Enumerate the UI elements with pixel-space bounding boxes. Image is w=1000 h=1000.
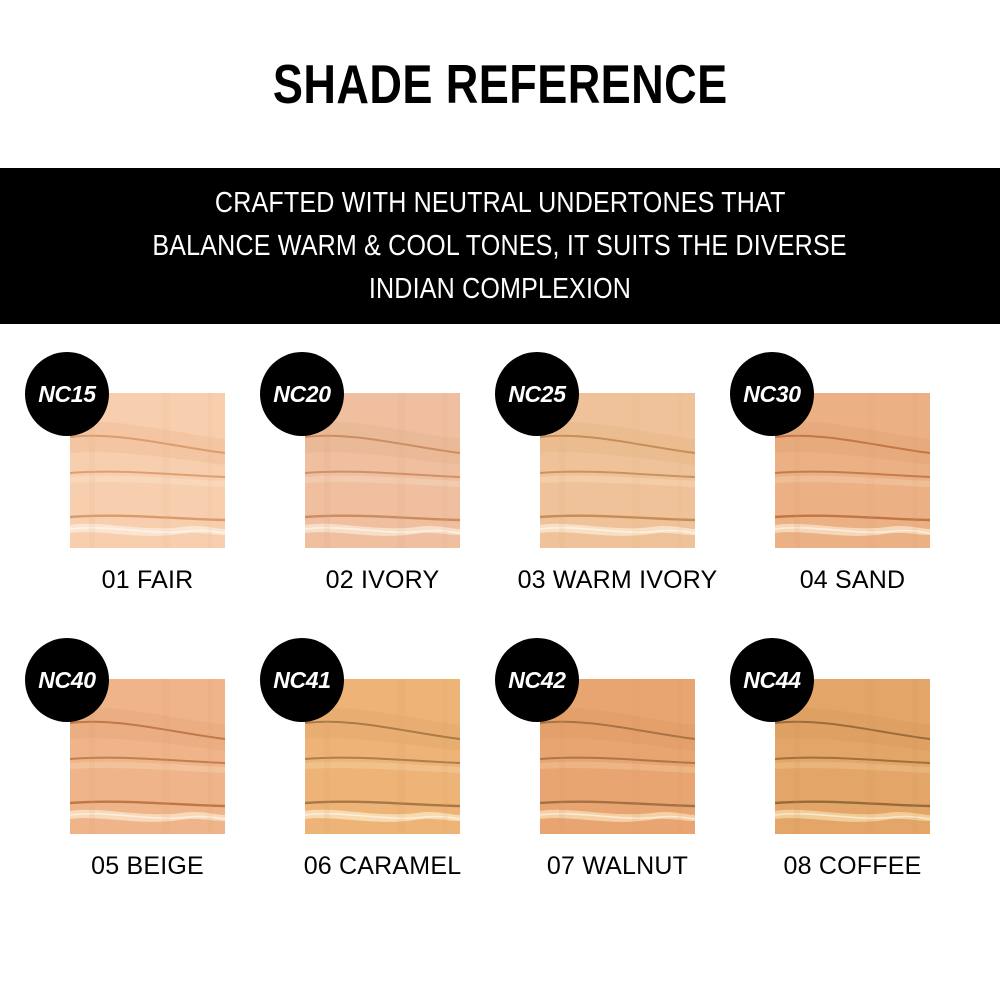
shade-badge: NC44: [730, 638, 814, 722]
shade-name: 02 IVORY: [275, 564, 490, 596]
shade-badge-label: NC42: [508, 667, 566, 694]
shade-name: 03 WARM IVORY: [510, 564, 725, 596]
shade-badge-label: NC44: [743, 667, 801, 694]
shade-name: 01 FAIR: [40, 564, 255, 596]
shade-badge-label: NC41: [273, 667, 331, 694]
shade-badge: NC20: [260, 352, 344, 436]
shade-card[interactable]: NC15 01 FAIR: [30, 352, 265, 596]
description-banner: CRAFTED WITH NEUTRAL UNDERTONES THAT BAL…: [0, 168, 1000, 324]
shade-badge: NC25: [495, 352, 579, 436]
shade-name: 04 SAND: [745, 564, 960, 596]
shade-badge-label: NC25: [508, 381, 566, 408]
shade-badge: NC41: [260, 638, 344, 722]
shade-row-2: NC40 05 BEIGE NC41 06 CARAMEL NC42 07 WA…: [0, 638, 1000, 882]
shade-card[interactable]: NC40 05 BEIGE: [30, 638, 265, 882]
shade-name: 08 COFFEE: [745, 850, 960, 882]
shade-badge-label: NC30: [743, 381, 801, 408]
shade-badge-label: NC15: [38, 381, 96, 408]
shade-name: 06 CARAMEL: [275, 850, 490, 882]
shade-row-1: NC15 01 FAIR NC20 02 IVORY NC25 03 WARM …: [0, 352, 1000, 596]
banner-line-3: INDIAN COMPLEXION: [369, 268, 631, 311]
shade-badge: NC42: [495, 638, 579, 722]
shade-grid: NC15 01 FAIR NC20 02 IVORY NC25 03 WARM …: [0, 324, 1000, 882]
shade-card[interactable]: NC42 07 WALNUT: [500, 638, 735, 882]
banner-line-1: CRAFTED WITH NEUTRAL UNDERTONES THAT: [215, 182, 786, 225]
banner-line-2: BALANCE WARM & COOL TONES, IT SUITS THE …: [153, 225, 847, 268]
shade-badge: NC30: [730, 352, 814, 436]
shade-badge-label: NC40: [38, 667, 96, 694]
shade-badge-label: NC20: [273, 381, 331, 408]
shade-badge: NC40: [25, 638, 109, 722]
shade-card[interactable]: NC44 08 COFFEE: [735, 638, 970, 882]
shade-card[interactable]: NC25 03 WARM IVORY: [500, 352, 735, 596]
title-section: SHADE REFERENCE: [0, 0, 1000, 168]
shade-card[interactable]: NC20 02 IVORY: [265, 352, 500, 596]
shade-badge: NC15: [25, 352, 109, 436]
shade-card[interactable]: NC30 04 SAND: [735, 352, 970, 596]
shade-name: 05 BEIGE: [40, 850, 255, 882]
shade-card[interactable]: NC41 06 CARAMEL: [265, 638, 500, 882]
page-title: SHADE REFERENCE: [273, 52, 728, 116]
shade-name: 07 WALNUT: [510, 850, 725, 882]
